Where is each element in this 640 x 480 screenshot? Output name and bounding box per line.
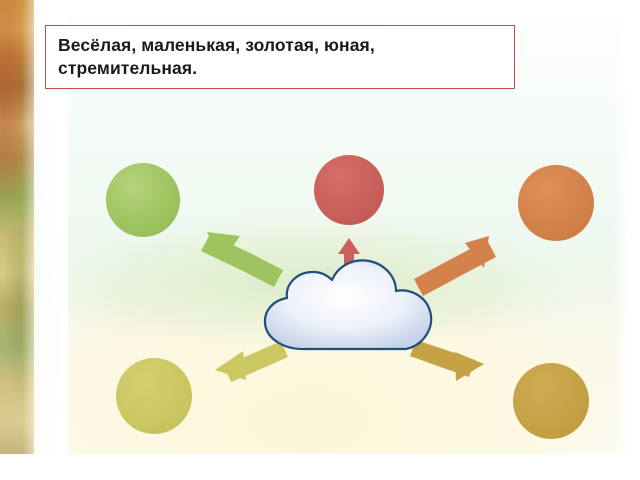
node-circle-olive[interactable] bbox=[116, 358, 192, 434]
node-circle-gold[interactable] bbox=[513, 363, 589, 439]
page-title: Весёлая, маленькая, золотая, юная, стрем… bbox=[58, 34, 502, 80]
slide-canvas: Весёлая, маленькая, золотая, юная, стрем… bbox=[0, 0, 640, 480]
title-box: Весёлая, маленькая, золотая, юная, стрем… bbox=[45, 25, 515, 89]
node-circle-red[interactable] bbox=[314, 155, 384, 225]
node-circle-green[interactable] bbox=[106, 163, 180, 237]
node-circle-orange[interactable] bbox=[518, 165, 594, 241]
background-right-fade bbox=[614, 0, 640, 480]
background-bottom-strip bbox=[0, 454, 640, 480]
center-cloud[interactable] bbox=[243, 255, 455, 365]
cloud-shape bbox=[265, 260, 431, 349]
